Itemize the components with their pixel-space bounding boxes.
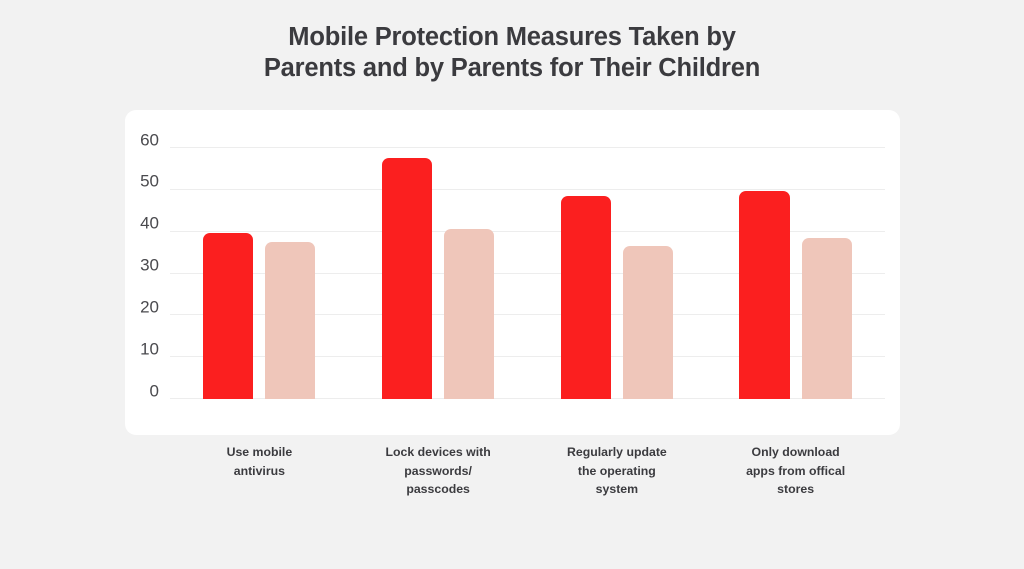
bar-parents — [382, 158, 432, 399]
y-axis-tick-label: 20 — [140, 298, 159, 315]
bar-parents — [203, 233, 253, 399]
bar-children — [444, 229, 494, 399]
chart-title: Mobile Protection Measures Taken by Pare… — [0, 22, 1024, 84]
chart-card: 0102030405060 — [125, 110, 900, 435]
plot-area: 0102030405060 — [170, 148, 885, 399]
y-axis-tick-label: 40 — [140, 215, 159, 232]
bar-parents — [739, 191, 789, 399]
bar-children — [623, 246, 673, 399]
x-axis-category-label: Regularly update the operating system — [537, 443, 697, 499]
y-axis-tick-label: 60 — [140, 131, 159, 148]
y-axis-tick-label: 50 — [140, 173, 159, 190]
x-axis-category-labels: Use mobile antivirusLock devices with pa… — [125, 443, 900, 513]
x-axis-category-label: Use mobile antivirus — [179, 443, 339, 480]
bar-series-group — [170, 148, 885, 399]
bar-parents — [561, 196, 611, 399]
y-axis-tick-label: 10 — [140, 340, 159, 357]
y-axis-tick-label: 30 — [140, 257, 159, 274]
bar-children — [802, 238, 852, 399]
x-axis-category-label: Only download apps from offical stores — [716, 443, 876, 499]
bar-children — [265, 242, 315, 399]
chart-page: Mobile Protection Measures Taken by Pare… — [0, 0, 1024, 569]
y-axis-tick-label: 0 — [150, 382, 159, 399]
x-axis-category-label: Lock devices with passwords/ passcodes — [358, 443, 518, 499]
